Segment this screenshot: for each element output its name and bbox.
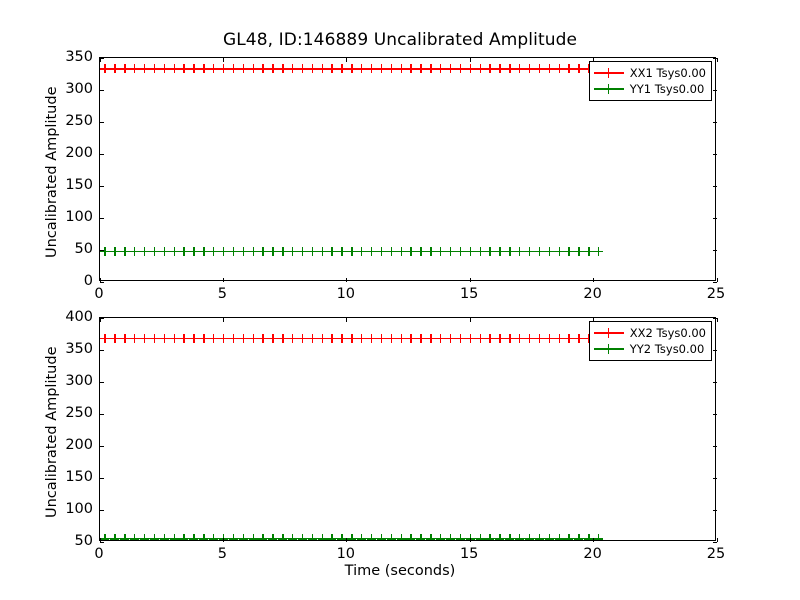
legend-bottom[interactable]: XX2 Tsys0.00YY2 Tsys0.00: [589, 321, 712, 361]
data-point-marker: [406, 534, 415, 540]
data-point-marker: [170, 247, 179, 256]
y-tick-mark: [713, 382, 717, 383]
page-title: GL48, ID:146889 Uncalibrated Amplitude: [0, 30, 800, 50]
y-tick-label: 300: [65, 374, 93, 388]
data-point-marker: [367, 247, 376, 256]
data-point-marker: [436, 334, 445, 343]
data-point-marker: [574, 334, 583, 343]
data-point-marker: [446, 247, 455, 256]
x-tick-mark: [100, 58, 101, 62]
data-point-marker: [555, 534, 564, 540]
data-point-marker: [120, 534, 129, 540]
data-point-marker: [426, 64, 435, 73]
data-point-marker: [150, 534, 159, 540]
data-point-marker: [308, 334, 317, 343]
data-point-marker: [308, 247, 317, 256]
data-point-marker: [377, 334, 386, 343]
data-point-marker: [288, 334, 297, 343]
y-tick-label: 300: [65, 82, 93, 96]
data-point-marker: [100, 334, 109, 343]
legend-label: YY2 Tsys0.00: [630, 342, 705, 357]
data-point-marker: [268, 247, 277, 256]
data-point-marker: [140, 64, 149, 73]
y-tick-label: 250: [65, 406, 93, 420]
data-point-marker: [476, 247, 485, 256]
x-tick-label: 10: [326, 287, 366, 301]
data-point-marker: [179, 334, 188, 343]
data-point-marker: [189, 334, 198, 343]
x-tick-label: 25: [696, 287, 736, 301]
data-point-marker: [406, 247, 415, 256]
y-tick-label: 150: [65, 178, 93, 192]
data-point-marker: [160, 534, 169, 540]
data-point-marker: [367, 64, 376, 73]
data-point-marker: [229, 247, 238, 256]
data-point-marker: [100, 64, 109, 73]
data-point-marker: [436, 247, 445, 256]
y-axis-ticklabels-top: 050100150200250300350: [39, 57, 93, 281]
data-point-marker: [535, 534, 544, 540]
x-tick-label: 15: [449, 547, 489, 561]
data-point-marker: [426, 534, 435, 540]
data-point-marker: [357, 247, 366, 256]
data-point-marker: [357, 334, 366, 343]
x-tick-mark: [346, 318, 347, 322]
data-point-marker: [347, 334, 356, 343]
x-tick-mark: [100, 318, 101, 322]
data-point-marker: [308, 534, 317, 540]
data-point-marker: [268, 64, 277, 73]
y-tick-label: 200: [65, 438, 93, 452]
data-point-marker: [397, 64, 406, 73]
plot-panel-top: XX1 Tsys0.00YY1 Tsys0.00: [99, 57, 716, 281]
data-point-marker: [564, 247, 573, 256]
data-point-marker: [485, 334, 494, 343]
data-point-marker: [545, 64, 554, 73]
data-point-marker: [525, 534, 534, 540]
data-point-marker: [406, 334, 415, 343]
y-tick-mark: [100, 282, 104, 283]
data-point-marker: [110, 64, 119, 73]
data-point-marker: [318, 64, 327, 73]
data-point-marker: [377, 64, 386, 73]
data-point-marker: [515, 64, 524, 73]
data-point-marker: [258, 247, 267, 256]
data-point-marker: [258, 334, 267, 343]
data-point-marker: [535, 64, 544, 73]
data-point-marker: [150, 64, 159, 73]
data-point-marker: [209, 64, 218, 73]
y-tick-mark: [100, 350, 104, 351]
legend-marker-icon: [594, 82, 624, 96]
x-tick-mark: [346, 58, 347, 62]
x-tick-label: 20: [573, 547, 613, 561]
data-point-marker: [545, 247, 554, 256]
data-point-marker: [594, 534, 603, 540]
data-point-marker: [288, 534, 297, 540]
data-point-marker: [485, 534, 494, 540]
y-tick-label: 350: [65, 342, 93, 356]
data-point-marker: [347, 64, 356, 73]
data-point-marker: [446, 64, 455, 73]
data-point-marker: [525, 64, 534, 73]
data-point-marker: [120, 334, 129, 343]
data-point-marker: [110, 534, 119, 540]
x-tick-mark: [223, 318, 224, 322]
data-point-marker: [130, 334, 139, 343]
data-point-marker: [308, 64, 317, 73]
data-point-marker: [406, 64, 415, 73]
y-tick-label: 250: [65, 114, 93, 128]
data-point-marker: [397, 247, 406, 256]
data-point-marker: [110, 247, 119, 256]
data-point-marker: [456, 334, 465, 343]
data-point-marker: [594, 247, 603, 256]
data-point-marker: [416, 247, 425, 256]
data-point-marker: [584, 247, 593, 256]
x-axis-label: Time (seconds): [0, 563, 800, 579]
data-point-marker: [130, 534, 139, 540]
legend-marker-icon: [594, 66, 624, 80]
data-point-marker: [298, 534, 307, 540]
x-tick-mark: [223, 58, 224, 62]
data-point-marker: [327, 247, 336, 256]
data-point-marker: [515, 534, 524, 540]
data-point-marker: [555, 64, 564, 73]
data-point-marker: [140, 534, 149, 540]
legend-item[interactable]: XX1 Tsys0.00: [594, 65, 706, 81]
data-point-marker: [416, 64, 425, 73]
x-tick-mark: [717, 538, 718, 542]
data-point-marker: [288, 247, 297, 256]
x-tick-mark: [346, 278, 347, 282]
data-point-marker: [564, 534, 573, 540]
data-point-marker: [298, 334, 307, 343]
y-tick-label: 200: [65, 146, 93, 160]
data-point-marker: [476, 64, 485, 73]
data-point-marker: [160, 64, 169, 73]
data-point-marker: [327, 534, 336, 540]
data-point-marker: [387, 64, 396, 73]
data-point-marker: [170, 64, 179, 73]
data-point-marker: [505, 247, 514, 256]
y-tick-mark: [713, 446, 717, 447]
x-tick-mark: [346, 538, 347, 542]
data-point-marker: [110, 334, 119, 343]
data-point-marker: [574, 247, 583, 256]
data-point-marker: [426, 247, 435, 256]
data-point-marker: [387, 534, 396, 540]
data-point-marker: [219, 247, 228, 256]
legend-label: YY1 Tsys0.00: [630, 82, 705, 97]
data-point-marker: [485, 64, 494, 73]
y-tick-mark: [713, 414, 717, 415]
y-tick-mark: [100, 186, 104, 187]
y-tick-mark: [100, 446, 104, 447]
data-point-marker: [239, 334, 248, 343]
data-point-marker: [525, 334, 534, 343]
data-point-marker: [515, 247, 524, 256]
x-tick-mark: [223, 278, 224, 282]
x-tick-label: 5: [202, 547, 242, 561]
data-point-marker: [318, 534, 327, 540]
data-point-marker: [466, 247, 475, 256]
data-point-marker: [268, 534, 277, 540]
data-point-marker: [397, 334, 406, 343]
x-tick-mark: [470, 278, 471, 282]
data-point-marker: [426, 334, 435, 343]
data-point-marker: [495, 64, 504, 73]
data-point-marker: [337, 334, 346, 343]
data-point-marker: [347, 247, 356, 256]
data-point-marker: [258, 534, 267, 540]
data-point-marker: [130, 64, 139, 73]
data-point-marker: [170, 334, 179, 343]
data-point-marker: [229, 334, 238, 343]
data-point-marker: [199, 64, 208, 73]
data-point-marker: [258, 64, 267, 73]
data-point-marker: [555, 247, 564, 256]
y-tick-mark: [713, 218, 717, 219]
legend-item[interactable]: XX2 Tsys0.00: [594, 325, 706, 341]
data-point-marker: [179, 247, 188, 256]
x-tick-mark: [223, 538, 224, 542]
x-tick-mark: [717, 278, 718, 282]
x-tick-mark: [593, 538, 594, 542]
data-point-marker: [436, 534, 445, 540]
data-point-marker: [495, 334, 504, 343]
data-point-marker: [495, 534, 504, 540]
data-point-marker: [199, 247, 208, 256]
data-point-marker: [535, 334, 544, 343]
data-point-marker: [327, 64, 336, 73]
data-point-marker: [505, 534, 514, 540]
data-point-marker: [476, 334, 485, 343]
y-tick-mark: [713, 122, 717, 123]
x-tick-mark: [470, 538, 471, 542]
data-point-marker: [229, 534, 238, 540]
data-point-marker: [367, 334, 376, 343]
y-tick-mark: [713, 478, 717, 479]
figure-canvas: GL48, ID:146889 Uncalibrated Amplitude U…: [0, 0, 800, 600]
legend-marker-icon: [594, 326, 624, 340]
data-point-marker: [249, 534, 258, 540]
data-point-marker: [150, 334, 159, 343]
y-tick-mark: [100, 122, 104, 123]
y-tick-mark: [100, 510, 104, 511]
data-point-marker: [189, 247, 198, 256]
data-point-marker: [239, 64, 248, 73]
data-point-marker: [377, 247, 386, 256]
y-tick-mark: [713, 90, 717, 91]
data-point-marker: [347, 534, 356, 540]
y-tick-label: 0: [84, 274, 93, 288]
y-tick-label: 400: [65, 310, 93, 324]
y-tick-mark: [100, 218, 104, 219]
data-point-marker: [545, 334, 554, 343]
x-tick-mark: [470, 318, 471, 322]
y-tick-mark: [100, 250, 104, 251]
y-tick-mark: [713, 250, 717, 251]
data-point-marker: [160, 334, 169, 343]
x-tick-mark: [100, 538, 101, 542]
x-axis-ticklabels-top: 0510152025: [99, 287, 716, 307]
data-point-marker: [327, 334, 336, 343]
data-point-marker: [288, 64, 297, 73]
data-point-marker: [555, 334, 564, 343]
data-point-marker: [219, 334, 228, 343]
y-tick-mark: [100, 478, 104, 479]
data-point-marker: [436, 64, 445, 73]
data-point-marker: [574, 534, 583, 540]
y-tick-mark: [100, 414, 104, 415]
data-point-marker: [209, 334, 218, 343]
data-point-marker: [357, 534, 366, 540]
data-point-marker: [337, 64, 346, 73]
data-point-marker: [120, 64, 129, 73]
data-point-marker: [298, 64, 307, 73]
data-point-marker: [249, 64, 258, 73]
y-tick-label: 50: [75, 534, 93, 548]
x-tick-label: 15: [449, 287, 489, 301]
data-point-marker: [120, 247, 129, 256]
data-point-marker: [278, 64, 287, 73]
y-tick-mark: [100, 58, 104, 59]
data-point-marker: [140, 334, 149, 343]
data-point-marker: [298, 247, 307, 256]
x-tick-mark: [470, 58, 471, 62]
data-point-marker: [387, 247, 396, 256]
data-point-marker: [337, 534, 346, 540]
y-tick-label: 100: [65, 210, 93, 224]
data-point-marker: [446, 334, 455, 343]
data-point-marker: [150, 247, 159, 256]
data-point-marker: [485, 247, 494, 256]
data-point-marker: [456, 64, 465, 73]
data-point-marker: [456, 534, 465, 540]
data-point-marker: [505, 64, 514, 73]
y-tick-mark: [100, 542, 104, 543]
y-tick-label: 350: [65, 50, 93, 64]
data-point-marker: [199, 334, 208, 343]
y-tick-mark: [713, 350, 717, 351]
y-tick-mark: [713, 510, 717, 511]
data-point-marker: [466, 334, 475, 343]
data-point-marker: [189, 64, 198, 73]
data-point-marker: [209, 247, 218, 256]
data-point-marker: [249, 247, 258, 256]
data-point-marker: [446, 534, 455, 540]
data-point-marker: [278, 247, 287, 256]
data-point-marker: [416, 334, 425, 343]
data-point-marker: [130, 247, 139, 256]
data-point-marker: [268, 334, 277, 343]
data-point-marker: [584, 534, 593, 540]
data-point-marker: [199, 534, 208, 540]
data-point-marker: [170, 534, 179, 540]
data-point-marker: [189, 534, 198, 540]
y-tick-label: 100: [65, 502, 93, 516]
x-tick-label: 0: [79, 287, 119, 301]
data-point-marker: [100, 534, 109, 540]
y-tick-mark: [713, 186, 717, 187]
x-tick-mark: [593, 278, 594, 282]
data-point-marker: [564, 64, 573, 73]
data-point-marker: [495, 247, 504, 256]
data-point-marker: [179, 534, 188, 540]
y-tick-label: 150: [65, 470, 93, 484]
y-tick-mark: [100, 154, 104, 155]
x-tick-mark: [717, 318, 718, 322]
data-point-marker: [416, 534, 425, 540]
data-point-marker: [239, 534, 248, 540]
data-point-marker: [249, 334, 258, 343]
y-tick-mark: [100, 318, 104, 319]
data-point-marker: [397, 534, 406, 540]
x-tick-label: 20: [573, 287, 613, 301]
data-point-marker: [377, 534, 386, 540]
x-tick-label: 25: [696, 547, 736, 561]
data-point-marker: [278, 334, 287, 343]
data-point-marker: [476, 534, 485, 540]
x-tick-mark: [100, 278, 101, 282]
data-point-marker: [179, 64, 188, 73]
data-point-marker: [140, 247, 149, 256]
data-point-marker: [574, 64, 583, 73]
y-tick-label: 50: [75, 242, 93, 256]
data-point-marker: [387, 334, 396, 343]
data-point-marker: [160, 247, 169, 256]
data-point-marker: [209, 534, 218, 540]
legend-top[interactable]: XX1 Tsys0.00YY1 Tsys0.00: [589, 61, 712, 101]
data-point-marker: [564, 334, 573, 343]
data-point-marker: [278, 534, 287, 540]
plot-panel-bottom: XX2 Tsys0.00YY2 Tsys0.00: [99, 317, 716, 541]
data-point-marker: [505, 334, 514, 343]
legend-item[interactable]: YY2 Tsys0.00: [594, 341, 706, 357]
y-axis-ticklabels-bottom: 50100150200250300350400: [39, 317, 93, 541]
data-point-marker: [535, 247, 544, 256]
data-point-marker: [357, 64, 366, 73]
x-tick-mark: [717, 58, 718, 62]
y-tick-mark: [713, 154, 717, 155]
data-point-marker: [100, 247, 109, 256]
data-point-marker: [219, 64, 228, 73]
x-tick-label: 5: [202, 287, 242, 301]
data-point-marker: [456, 247, 465, 256]
data-point-marker: [318, 247, 327, 256]
data-point-marker: [229, 64, 238, 73]
legend-item[interactable]: YY1 Tsys0.00: [594, 81, 706, 97]
data-point-marker: [515, 334, 524, 343]
data-point-marker: [318, 334, 327, 343]
x-tick-label: 10: [326, 547, 366, 561]
data-point-marker: [545, 534, 554, 540]
y-tick-mark: [100, 382, 104, 383]
data-point-marker: [525, 247, 534, 256]
y-tick-mark: [100, 90, 104, 91]
legend-marker-icon: [594, 342, 624, 356]
legend-label: XX2 Tsys0.00: [630, 326, 706, 341]
legend-label: XX1 Tsys0.00: [630, 66, 706, 81]
data-point-marker: [367, 534, 376, 540]
data-point-marker: [239, 247, 248, 256]
data-point-marker: [337, 247, 346, 256]
x-tick-label: 0: [79, 547, 119, 561]
data-point-marker: [466, 64, 475, 73]
